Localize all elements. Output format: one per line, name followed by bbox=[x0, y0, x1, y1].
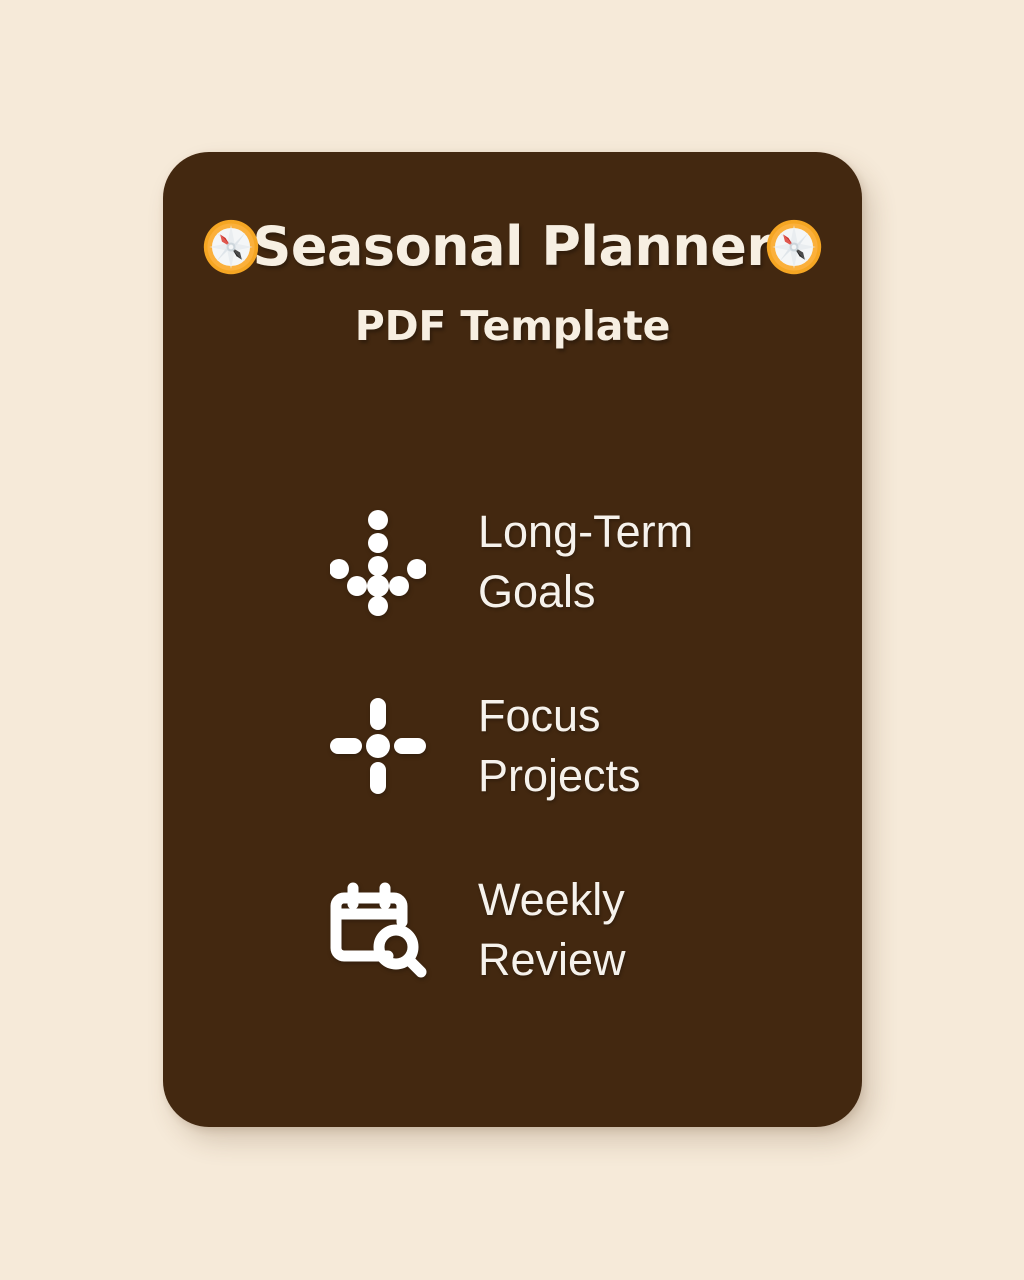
calendar-search-icon bbox=[303, 875, 453, 985]
dotted-down-arrow-icon bbox=[303, 507, 453, 617]
page-root: Seasonal Planner bbox=[0, 0, 1024, 1280]
feature-row-long-term-goals: Long-Term Goals bbox=[163, 470, 862, 654]
seasonal-planner-card: Seasonal Planner bbox=[163, 152, 862, 1127]
feature-row-focus-projects: Focus Projects bbox=[163, 654, 862, 838]
card-subtitle: PDF Template bbox=[163, 302, 862, 350]
title-row: Seasonal Planner bbox=[163, 218, 862, 276]
card-header: Seasonal Planner bbox=[163, 152, 862, 350]
crosshair-focus-icon bbox=[303, 691, 453, 801]
compass-emoji-right bbox=[765, 218, 823, 276]
feature-label-weekly-review: Weekly Review bbox=[478, 870, 862, 990]
feature-label-focus-projects: Focus Projects bbox=[478, 686, 862, 806]
compass-emoji-left bbox=[202, 218, 260, 276]
feature-row-weekly-review: Weekly Review bbox=[163, 838, 862, 1022]
card-title: Seasonal Planner bbox=[252, 220, 772, 274]
feature-label-long-term-goals: Long-Term Goals bbox=[478, 502, 862, 622]
feature-list: Long-Term Goals Focus Project bbox=[163, 470, 862, 1022]
